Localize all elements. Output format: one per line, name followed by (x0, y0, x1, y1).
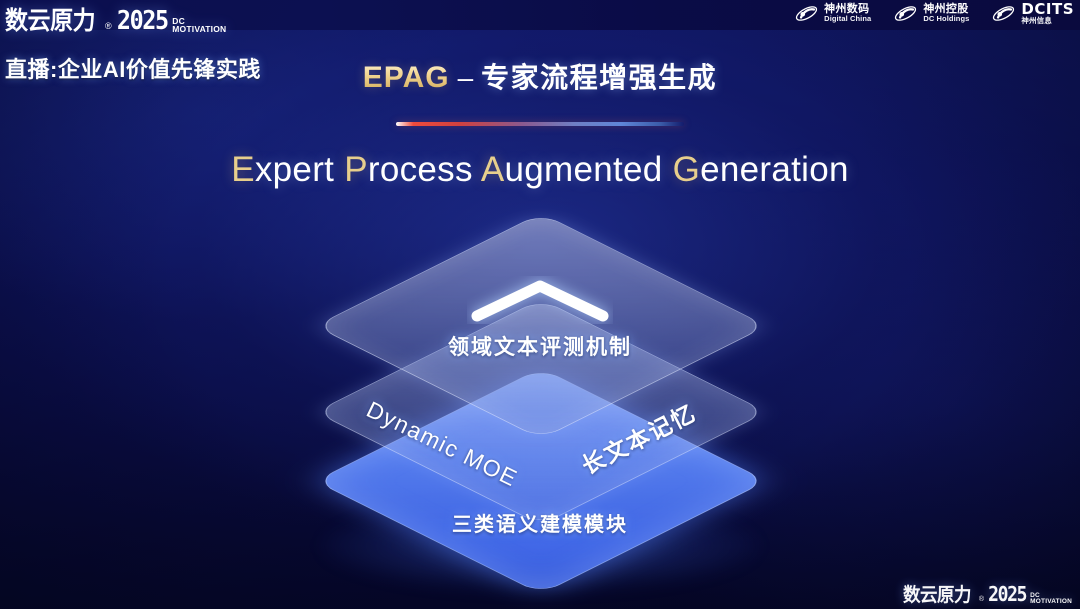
partner-logo-digital-china: 神州数码 Digital China (794, 4, 871, 23)
brand-registered-mark: ® (105, 21, 112, 31)
title-english: Expert Process Augmented Generation (0, 150, 1080, 190)
partner-name-en: DC Holdings (923, 15, 969, 23)
page-title: EPAG–专家流程增强生成 (0, 56, 1080, 96)
partner-logo-group: 神州数码 Digital China 神州控股 DC Holdings (794, 2, 1074, 25)
swirl-icon (794, 4, 819, 23)
brand-motivation-text: MOTIVATION (172, 26, 226, 34)
diagram-layer-top (381, 166, 701, 486)
watermark-logo-year: 2025 (988, 582, 1026, 606)
title-english-part: A (481, 150, 505, 189)
layer-label-middle-left: Dynamic MOE (362, 396, 522, 492)
title-english-part: ugmented (505, 150, 673, 189)
footer-watermark-logo: 数云原力 ® 2025 DC MOTIVATION (903, 580, 1072, 607)
partner-name-en: DCITS (1021, 2, 1074, 17)
partner-logo-dc-holdings: 神州控股 DC Holdings (893, 4, 969, 23)
title-english-part: rocess (368, 150, 481, 189)
title-english-part: xpert (255, 150, 344, 189)
watermark-logo-cn: 数云原力 (903, 580, 971, 607)
partner-logo-dcits: DCITS 神州信息 (991, 2, 1074, 25)
title-english-part: P (344, 150, 368, 189)
partner-name-cn: 神州信息 (1021, 17, 1074, 25)
slide-canvas: 数云原力 ® 2025 DC MOTIVATION 直播:企业AI价值先锋实践 … (0, 0, 1080, 609)
watermark-motivation-text: MOTIVATION (1030, 599, 1072, 605)
chevron-up-icon (467, 276, 613, 324)
title-divider (396, 122, 684, 126)
brand-logo: 数云原力 ® 2025 DC MOTIVATION (5, 1, 226, 37)
title-english-part: eneration (700, 150, 849, 189)
partner-name-en: Digital China (824, 15, 871, 23)
layer-plate-top (315, 213, 768, 439)
swirl-icon (893, 4, 918, 23)
layer-plate-bottom (315, 368, 768, 594)
layer-label-bottom: 三类语义建模模块 (452, 508, 628, 537)
bottom-layer-glow (320, 500, 760, 592)
layer-label-top: 领域文本评测机制 (448, 331, 632, 361)
diagram-layer-bottom (381, 321, 701, 609)
brand-logo-dc-motivation: DC MOTIVATION (172, 18, 226, 37)
title-chinese: 专家流程增强生成 (481, 62, 717, 93)
title-english-part: G (673, 150, 701, 189)
partner-text: 神州控股 DC Holdings (923, 4, 969, 23)
watermark-dc-motivation: DC MOTIVATION (1030, 593, 1072, 607)
brand-logo-cn: 数云原力 (5, 1, 95, 37)
swirl-icon (991, 4, 1016, 23)
layer-plate-middle (315, 299, 768, 525)
diagram-layer-middle (381, 252, 701, 572)
title-abbreviation: EPAG (363, 61, 450, 94)
brand-logo-year: 2025 (116, 6, 167, 36)
title-english-part: E (231, 150, 255, 189)
watermark-registered-mark: ® (979, 596, 984, 603)
title-dash: – (458, 62, 474, 93)
partner-text: DCITS 神州信息 (1021, 2, 1074, 25)
layer-label-middle-right: 长文本记忆 (575, 394, 702, 481)
partner-text: 神州数码 Digital China (824, 4, 871, 23)
